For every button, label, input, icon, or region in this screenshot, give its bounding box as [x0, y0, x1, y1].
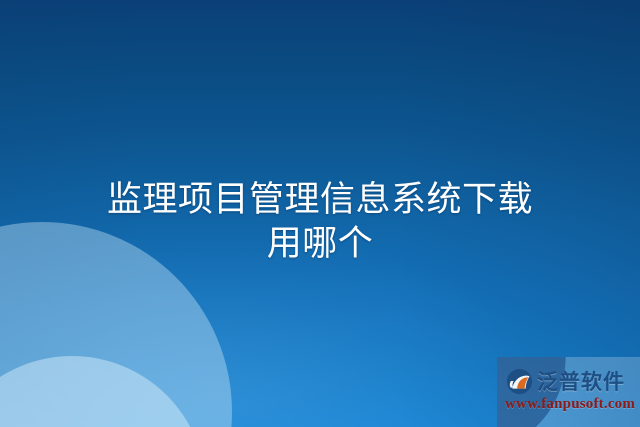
- banner-canvas: 监理项目管理信息系统下载 用哪个 泛普软件 www.fanpusoft.com: [0, 0, 640, 427]
- watermark: 泛普软件 www.fanpusoft.com: [497, 357, 640, 427]
- title-line-1: 监理项目管理信息系统下载: [18, 178, 622, 222]
- watermark-url: www.fanpusoft.com: [505, 395, 635, 413]
- title-line-2: 用哪个: [18, 222, 622, 266]
- fanpu-swoosh-logo-icon: [506, 368, 533, 395]
- watermark-brand-row: 泛普软件: [506, 368, 625, 395]
- watermark-brand-name: 泛普软件: [537, 370, 625, 394]
- page-title: 监理项目管理信息系统下载 用哪个: [0, 178, 640, 266]
